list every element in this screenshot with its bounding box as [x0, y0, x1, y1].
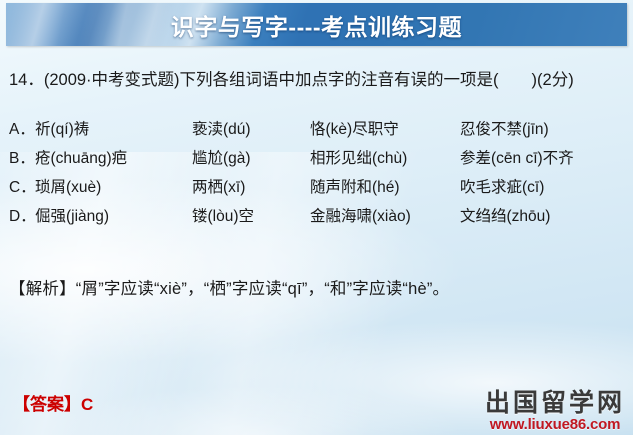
page-title: 识字与写字----考点训练习题 — [6, 8, 627, 42]
option-b-word-1: 疮(chuāng)疤 — [35, 146, 192, 168]
option-a-word-3: 恪(kè)尽职守 — [310, 117, 460, 139]
question-stem: 14．(2009·中考变式题)下列各组词语中加点字的注音有误的一项是( )(2分… — [9, 70, 625, 91]
title-banner: 识字与写字----考点训练习题 — [6, 3, 627, 46]
option-c-word-1: 琐屑(xuè) — [35, 175, 192, 197]
explanation-text: 【解析】“屑”字应读“xiè”，“栖”字应读“qī”，“和”字应读“hè”。 — [9, 277, 629, 302]
option-b-word-4: 参差(cēn cī)不齐 — [460, 146, 574, 168]
option-label-b: B． — [9, 146, 35, 168]
option-c-word-3: 随声附和(hé) — [310, 175, 460, 197]
option-a-word-4: 忍俊不禁(jīn) — [460, 117, 549, 139]
option-b-word-3: 相形见绌(chù) — [310, 146, 460, 168]
option-c-word-2: 两栖(xī) — [192, 175, 310, 197]
option-a-word-1: 祈(qí)祷 — [35, 117, 192, 139]
option-b-word-2: 尴尬(gà) — [192, 146, 310, 168]
watermark: 出国留学网 www.liuxue86.com — [485, 391, 625, 432]
option-label-c: C． — [9, 175, 35, 197]
option-d-word-2: 镂(lòu)空 — [192, 204, 310, 226]
option-c-word-4: 吹毛求疵(cī) — [460, 175, 544, 197]
answer-text: 【答案】C — [13, 390, 93, 415]
slide-canvas: 识字与写字----考点训练习题 14．(2009·中考变式题)下列各组词语中加点… — [0, 0, 633, 435]
option-label-d: D． — [9, 204, 35, 226]
options-list: A． 祈(qí)祷 亵渎(dú) 恪(kè)尽职守 忍俊不禁(jīn) B． 疮… — [9, 117, 627, 233]
option-a-word-2: 亵渎(dú) — [192, 117, 310, 139]
option-row-a[interactable]: A． 祈(qí)祷 亵渎(dú) 恪(kè)尽职守 忍俊不禁(jīn) — [9, 117, 627, 146]
option-d-word-1: 倔强(jiàng) — [35, 204, 192, 226]
option-row-d[interactable]: D． 倔强(jiàng) 镂(lòu)空 金融海啸(xiào) 文绉绉(zhōu… — [9, 204, 627, 233]
watermark-url: www.liuxue86.com — [485, 417, 625, 432]
option-row-b[interactable]: B． 疮(chuāng)疤 尴尬(gà) 相形见绌(chù) 参差(cēn cī… — [9, 146, 627, 175]
option-row-c[interactable]: C． 琐屑(xuè) 两栖(xī) 随声附和(hé) 吹毛求疵(cī) — [9, 175, 627, 204]
option-d-word-3: 金融海啸(xiào) — [310, 204, 460, 226]
option-d-word-4: 文绉绉(zhōu) — [460, 204, 550, 226]
watermark-site-name: 出国留学网 — [485, 391, 625, 416]
option-label-a: A． — [9, 117, 35, 139]
